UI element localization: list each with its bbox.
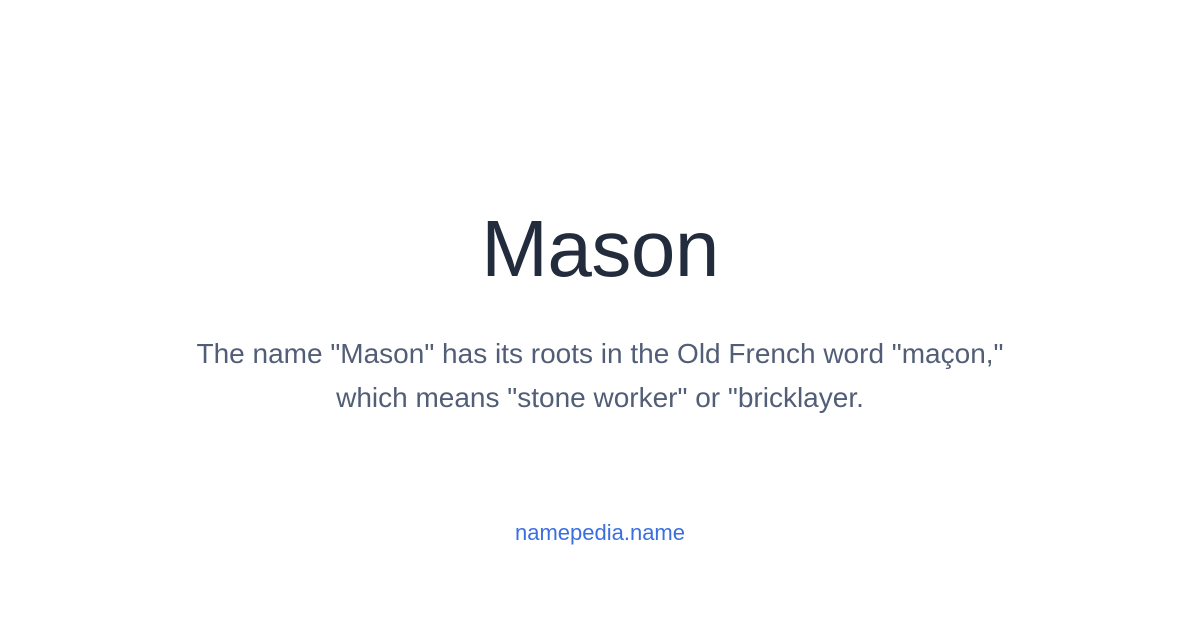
name-card: Mason The name "Mason" has its roots in … xyxy=(0,0,1200,630)
name-origin-description: The name "Mason" has its roots in the Ol… xyxy=(170,332,1030,420)
footer: namepedia.name xyxy=(0,518,1200,548)
site-link[interactable]: namepedia.name xyxy=(515,520,685,545)
page-title: Mason xyxy=(0,0,1200,289)
